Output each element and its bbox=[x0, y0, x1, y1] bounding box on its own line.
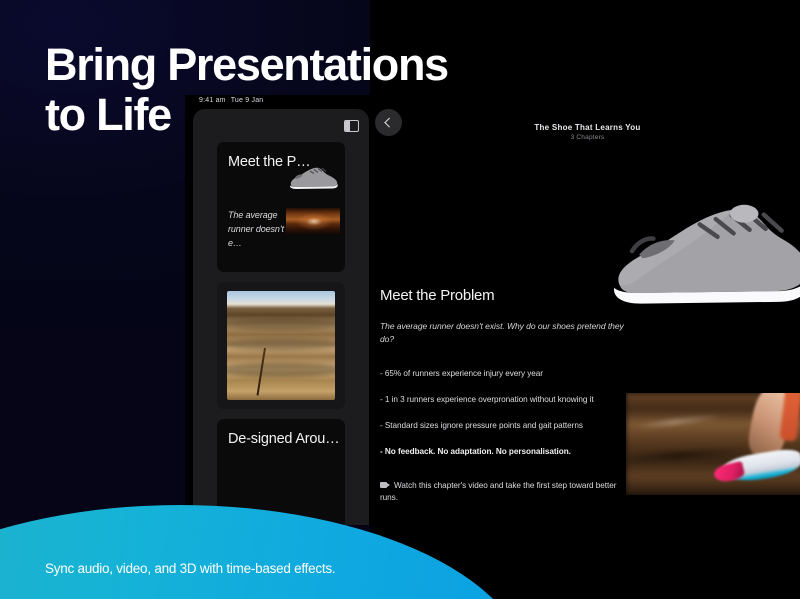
sand-dune-photo bbox=[227, 291, 335, 400]
sidebar-panel: Meet the P… The average runner doesn't e… bbox=[193, 109, 369, 525]
slide-content: Meet the Problem The average runner does… bbox=[380, 287, 630, 504]
card-body: The average runner doesn't e… bbox=[228, 209, 284, 251]
headline-line-2: to Life bbox=[45, 90, 465, 140]
video-thumbnail bbox=[286, 208, 340, 234]
list-item[interactable] bbox=[217, 282, 345, 409]
list-item: - 65% of runners experience injury every… bbox=[380, 368, 630, 379]
grey-running-shoe bbox=[607, 187, 800, 317]
list-item: - Standard sizes ignore pressure points … bbox=[380, 420, 630, 431]
page-title: Bring Presentations to Life bbox=[45, 40, 465, 140]
slide-canvas: The Shoe That Learns You 3 Chapters Meet… bbox=[375, 109, 800, 525]
slide-lede: The average runner doesn't exist. Why do… bbox=[380, 320, 630, 346]
slide-cta: Watch this chapter's video and take the … bbox=[380, 480, 630, 504]
list-item: - 1 in 3 runners experience overpronatio… bbox=[380, 394, 630, 405]
card-title: De-signed Arou… bbox=[228, 431, 339, 449]
list-item[interactable]: Meet the P… The average runner doesn't e… bbox=[217, 142, 345, 272]
list-item: - No feedback. No adaptation. No persona… bbox=[380, 446, 630, 457]
video-camera-icon bbox=[380, 481, 391, 489]
shoe-image bbox=[288, 161, 340, 192]
marketing-caption: Sync audio, video, and 3D with time-base… bbox=[45, 561, 335, 576]
slide-heading: Meet the Problem bbox=[380, 287, 630, 304]
slide-cta-text: Watch this chapter's video and take the … bbox=[380, 481, 616, 502]
headline-line-1: Bring Presentations bbox=[45, 40, 465, 90]
marketing-slide: Bring Presentations to Life 9:41 amTue 9… bbox=[0, 0, 800, 599]
tablet-device: 9:41 amTue 9 Jan Meet the P… The average… bbox=[185, 95, 800, 525]
motion-blur-runner[interactable] bbox=[626, 393, 800, 495]
chapter-card-list: Meet the P… The average runner doesn't e… bbox=[217, 142, 345, 525]
